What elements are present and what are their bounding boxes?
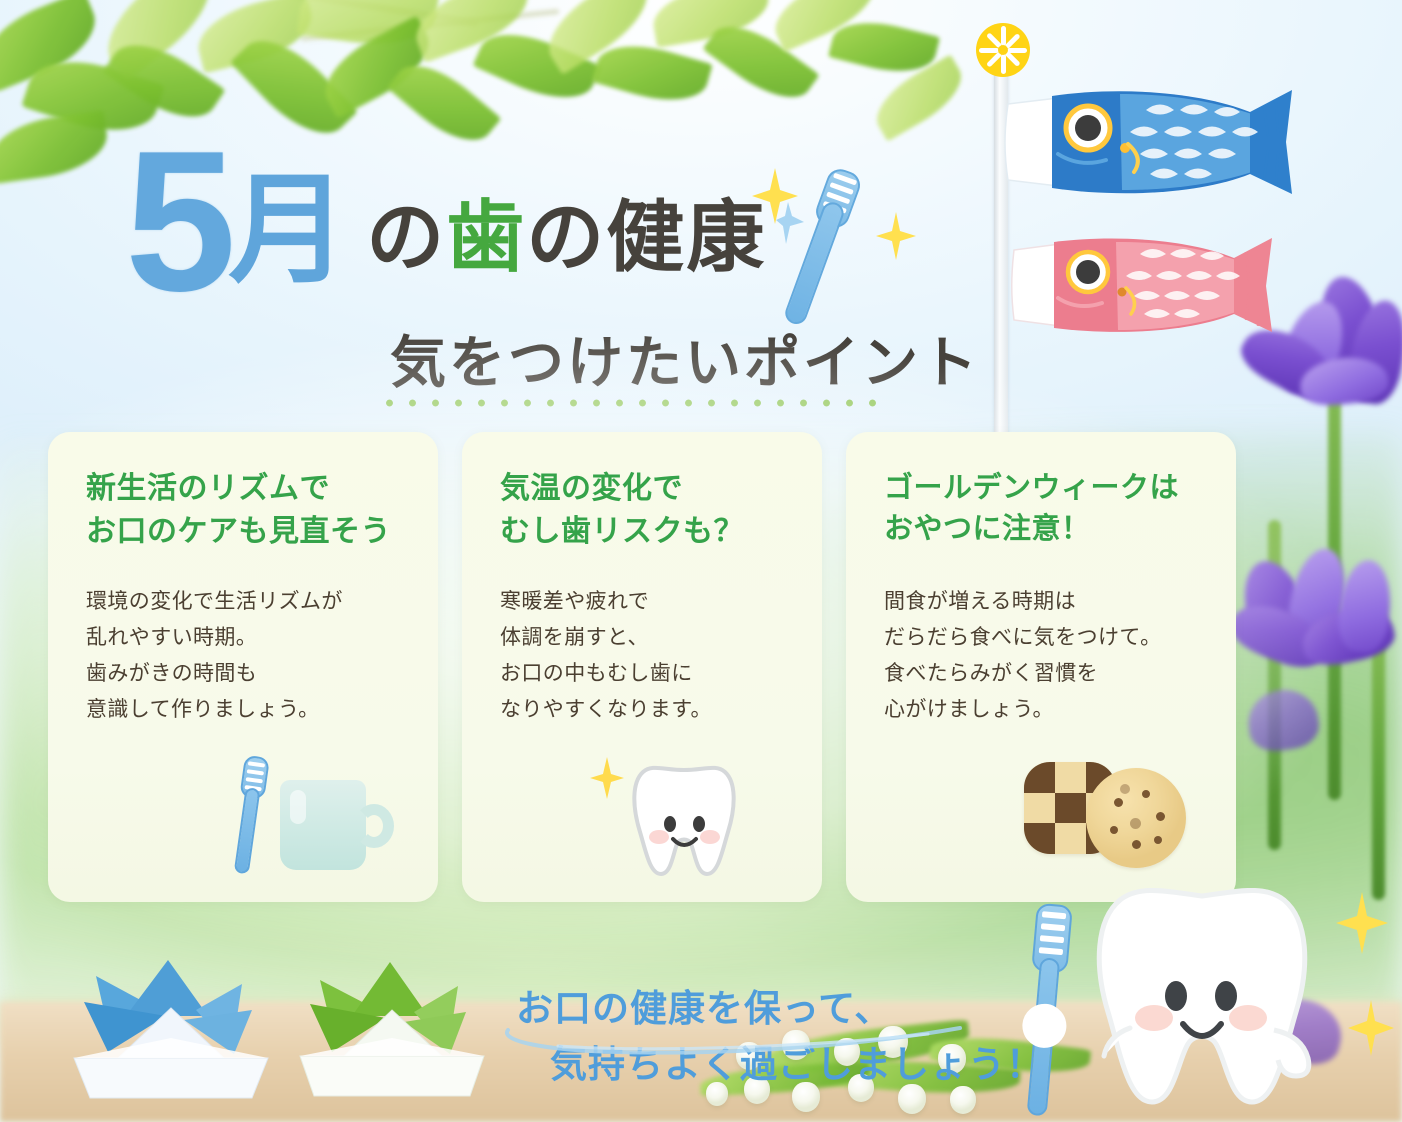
- tooth-mascot-icon: [1078, 888, 1326, 1114]
- sparkle-icon: [1348, 1000, 1394, 1061]
- poster-canvas: 5 月 の歯の健康 気をつけたいポイント: [0, 0, 1402, 1122]
- sparkle-icon: [876, 212, 916, 260]
- card-heading: 気温の変化で むし歯リスクも？: [500, 468, 744, 553]
- swoosh-underline: [498, 1022, 968, 1056]
- point-card[interactable]: 新生活のリズムで お口のケアも見直そう 環境の変化で生活リズムが 乱れやすい時期…: [48, 432, 438, 902]
- title-tail-pre: の: [366, 193, 446, 281]
- points-card-list: 新生活のリズムで お口のケアも見直そう 環境の変化で生活リズムが 乱れやすい時期…: [48, 432, 1240, 902]
- cookies-icon: [846, 754, 1236, 884]
- point-card[interactable]: ゴールデンウィークは おやつに注意！ 間食が増える時期は だらだら食べに気をつけ…: [846, 432, 1236, 902]
- origami-kabuto-green-icon: [286, 946, 496, 1111]
- sparkle-icon: [776, 200, 806, 246]
- smiling-tooth-icon: [462, 754, 822, 884]
- card-heading: 新生活のリズムで お口のケアも見直そう: [86, 468, 391, 553]
- card-body: 寒暖差や疲れで 体調を崩すと、 お口の中もむし歯に なりやすくなります。: [500, 584, 712, 728]
- title-tail: の歯の健康: [366, 198, 766, 276]
- origami-kabuto-blue-icon: [56, 940, 286, 1115]
- month-number: 5: [125, 140, 232, 304]
- koinobori-blue-icon: [1000, 82, 1300, 207]
- card-body: 環境の変化で生活リズムが 乱れやすい時期。 歯みがきの時間も 意識して作りましょ…: [86, 584, 343, 728]
- pinwheel-icon: [975, 22, 1031, 78]
- point-card[interactable]: 気温の変化で むし歯リスクも？ 寒暖差や疲れで 体調を崩すと、 お口の中もむし歯…: [462, 432, 822, 902]
- card-heading: ゴールデンウィークは おやつに注意！: [884, 468, 1179, 550]
- toothbrush-and-cup-icon: [48, 754, 438, 884]
- title-tail-tooth: 歯: [446, 193, 526, 281]
- page-title: 5 月 の歯の健康: [125, 140, 766, 304]
- title-tail-post: の健康: [526, 193, 766, 281]
- card-body: 間食が増える時期は だらだら食べに気をつけて。 食べたらみがく習慣を 心がけまし…: [884, 584, 1162, 728]
- sparkle-icon: [1336, 892, 1388, 959]
- month-unit: 月: [228, 170, 348, 290]
